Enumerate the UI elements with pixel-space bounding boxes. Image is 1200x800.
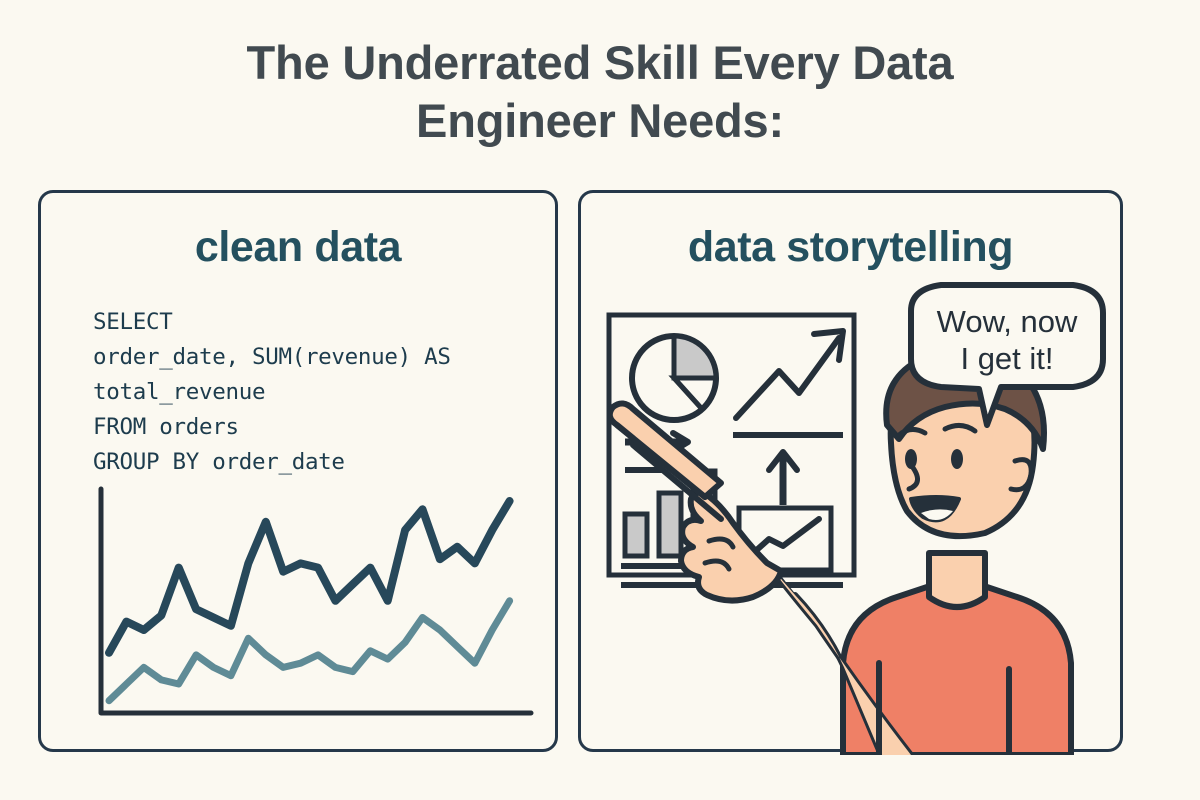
eye-right (951, 449, 963, 469)
neck (929, 553, 985, 607)
chart-line-baseline (109, 601, 510, 701)
panel-data-storytelling: data storytelling (578, 190, 1123, 752)
trend-arrow-icon (733, 331, 843, 435)
sql-code-block: SELECT order_date, SUM(revenue) AS total… (93, 305, 533, 480)
storytelling-illustration: Wow, now I get it! (581, 193, 1126, 755)
speech-bubble-line-2: I get it! (960, 341, 1053, 376)
panel-left-heading: clean data (41, 223, 555, 272)
infographic-canvas: The Underrated Skill Every Data Engineer… (0, 0, 1200, 800)
up-arrow-icon (769, 452, 797, 505)
pie-chart-icon (632, 336, 716, 420)
line-chart (79, 481, 549, 736)
panel-clean-data: clean data SELECT order_date, SUM(revenu… (38, 190, 558, 752)
chart-line-total-revenue (109, 501, 510, 653)
speech-bubble-line-1: Wow, now (937, 304, 1078, 339)
page-title: The Underrated Skill Every Data Engineer… (0, 34, 1200, 150)
